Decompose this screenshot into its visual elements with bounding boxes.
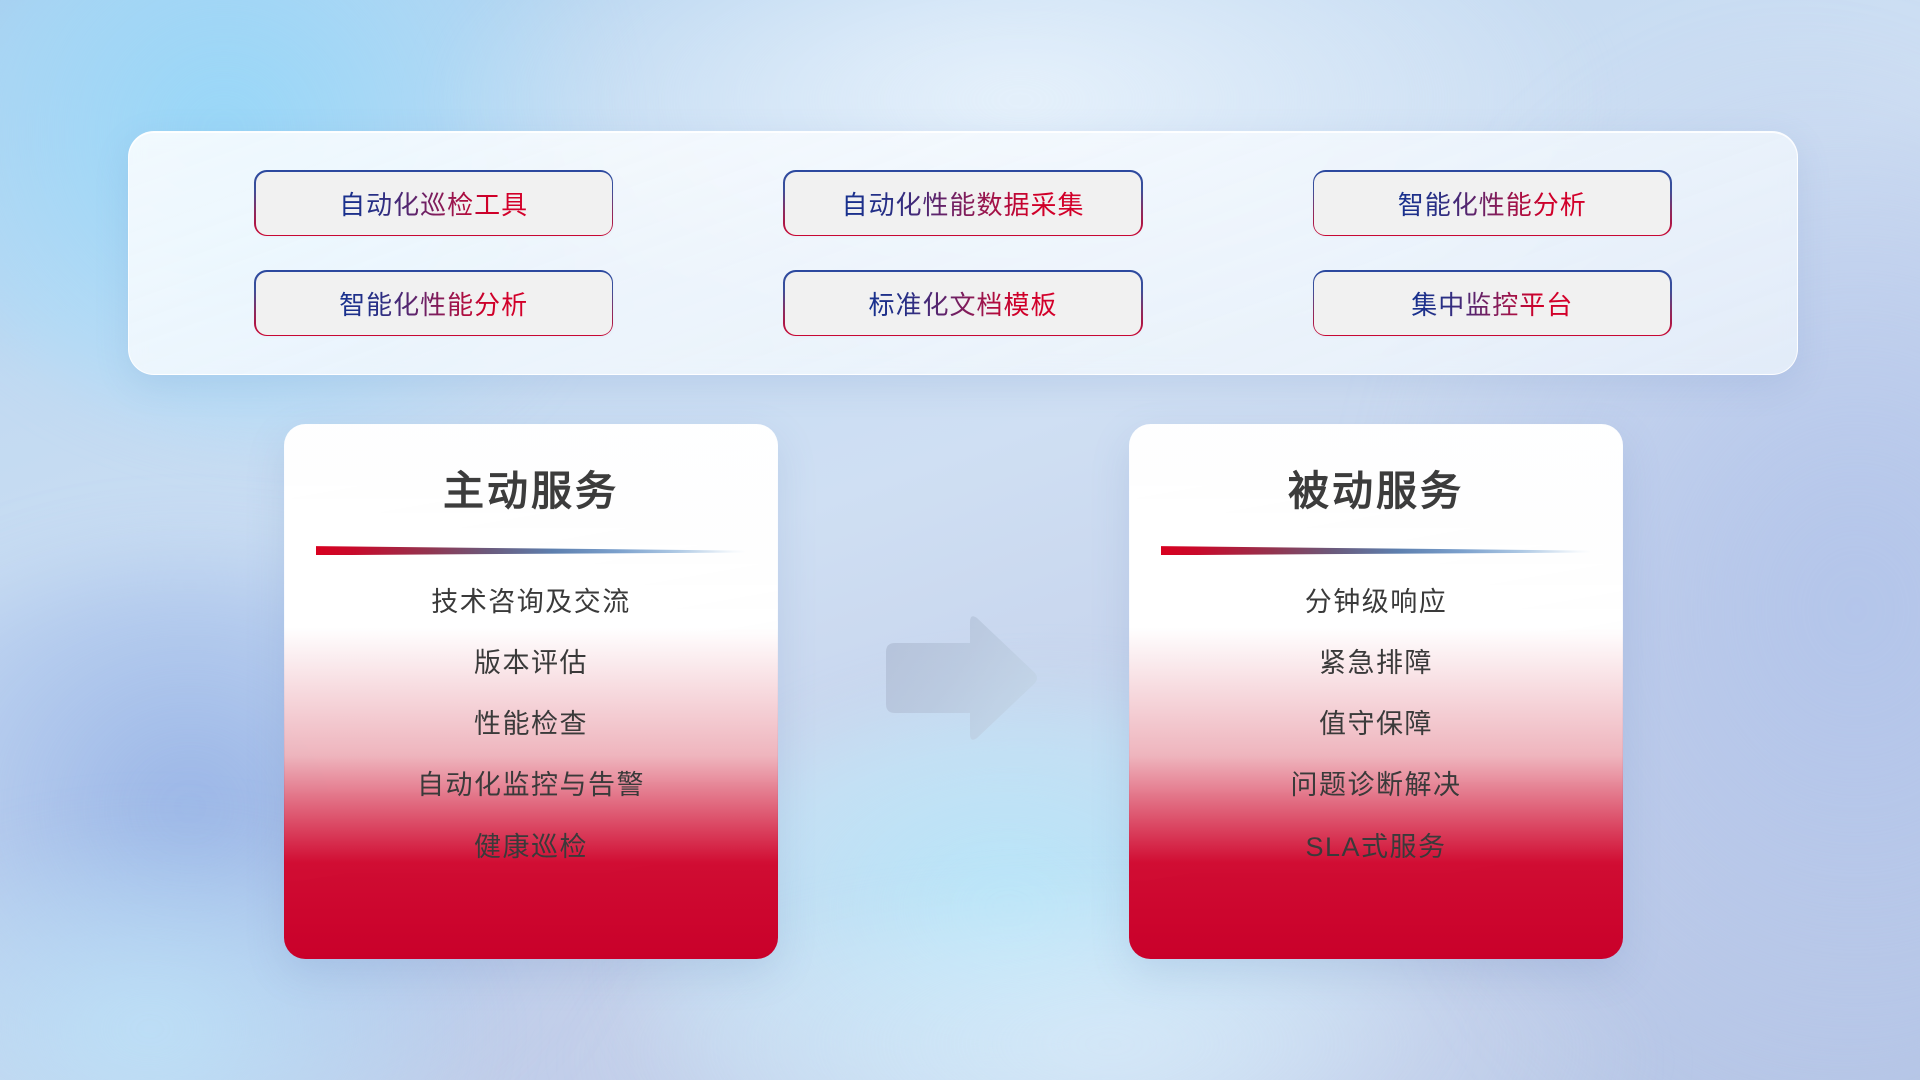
slide-canvas: 自动化巡检工具 自动化性能数据采集 智能化性能分析 智能化性能分析 标准化文档模… bbox=[0, 0, 1920, 1080]
capability-pill-label: 集中监控平台 bbox=[1411, 285, 1573, 322]
card-item-list: 分钟级响应 紧急排障 值守保障 问题诊断解决 SLA式服务 bbox=[1158, 585, 1594, 864]
list-item: 紧急排障 bbox=[1319, 646, 1433, 681]
list-item: 健康巡检 bbox=[474, 830, 588, 865]
list-item: 技术咨询及交流 bbox=[431, 585, 631, 620]
capability-pill-label: 智能化性能分析 bbox=[339, 285, 528, 322]
card-title: 被动服务 bbox=[1288, 467, 1464, 516]
list-item: 自动化监控与告警 bbox=[417, 768, 645, 803]
list-item: 性能检查 bbox=[474, 707, 588, 742]
card-divider-bar bbox=[1161, 544, 1591, 555]
arrow-right-icon bbox=[878, 612, 1040, 744]
capability-pill-label: 自动化性能数据采集 bbox=[841, 185, 1084, 222]
capability-pill-3[interactable]: 智能化性能分析 bbox=[1314, 172, 1670, 235]
capability-pill-2[interactable]: 自动化性能数据采集 bbox=[785, 172, 1141, 235]
service-card-reactive: 被动服务 分钟级响应 紧急排障 值守保障 问题诊断解决 SLA式服务 bbox=[1130, 425, 1622, 958]
capability-pill-label: 自动化巡检工具 bbox=[339, 185, 528, 222]
card-divider bbox=[316, 544, 746, 555]
list-item: SLA式服务 bbox=[1305, 830, 1446, 865]
service-card-proactive: 主动服务 技术咨询及交流 版本评估 性能检查 自动化监控与告警 健康巡检 bbox=[285, 425, 777, 958]
list-item: 值守保障 bbox=[1319, 707, 1433, 742]
capability-pill-label: 标准化文档模板 bbox=[868, 285, 1057, 322]
capability-pill-6[interactable]: 集中监控平台 bbox=[1314, 272, 1670, 335]
capabilities-panel: 自动化巡检工具 自动化性能数据采集 智能化性能分析 智能化性能分析 标准化文档模… bbox=[128, 131, 1798, 375]
card-divider bbox=[1161, 544, 1591, 555]
capability-pill-label: 智能化性能分析 bbox=[1398, 185, 1587, 222]
card-divider-bar bbox=[316, 544, 746, 555]
list-item: 分钟级响应 bbox=[1305, 585, 1448, 620]
card-title: 主动服务 bbox=[443, 467, 619, 516]
card-item-list: 技术咨询及交流 版本评估 性能检查 自动化监控与告警 健康巡检 bbox=[313, 585, 749, 864]
list-item: 问题诊断解决 bbox=[1291, 768, 1462, 803]
list-item: 版本评估 bbox=[474, 646, 588, 681]
capability-pill-5[interactable]: 标准化文档模板 bbox=[785, 272, 1141, 335]
capability-pill-1[interactable]: 自动化巡检工具 bbox=[256, 172, 612, 235]
capability-pill-4[interactable]: 智能化性能分析 bbox=[256, 272, 612, 335]
